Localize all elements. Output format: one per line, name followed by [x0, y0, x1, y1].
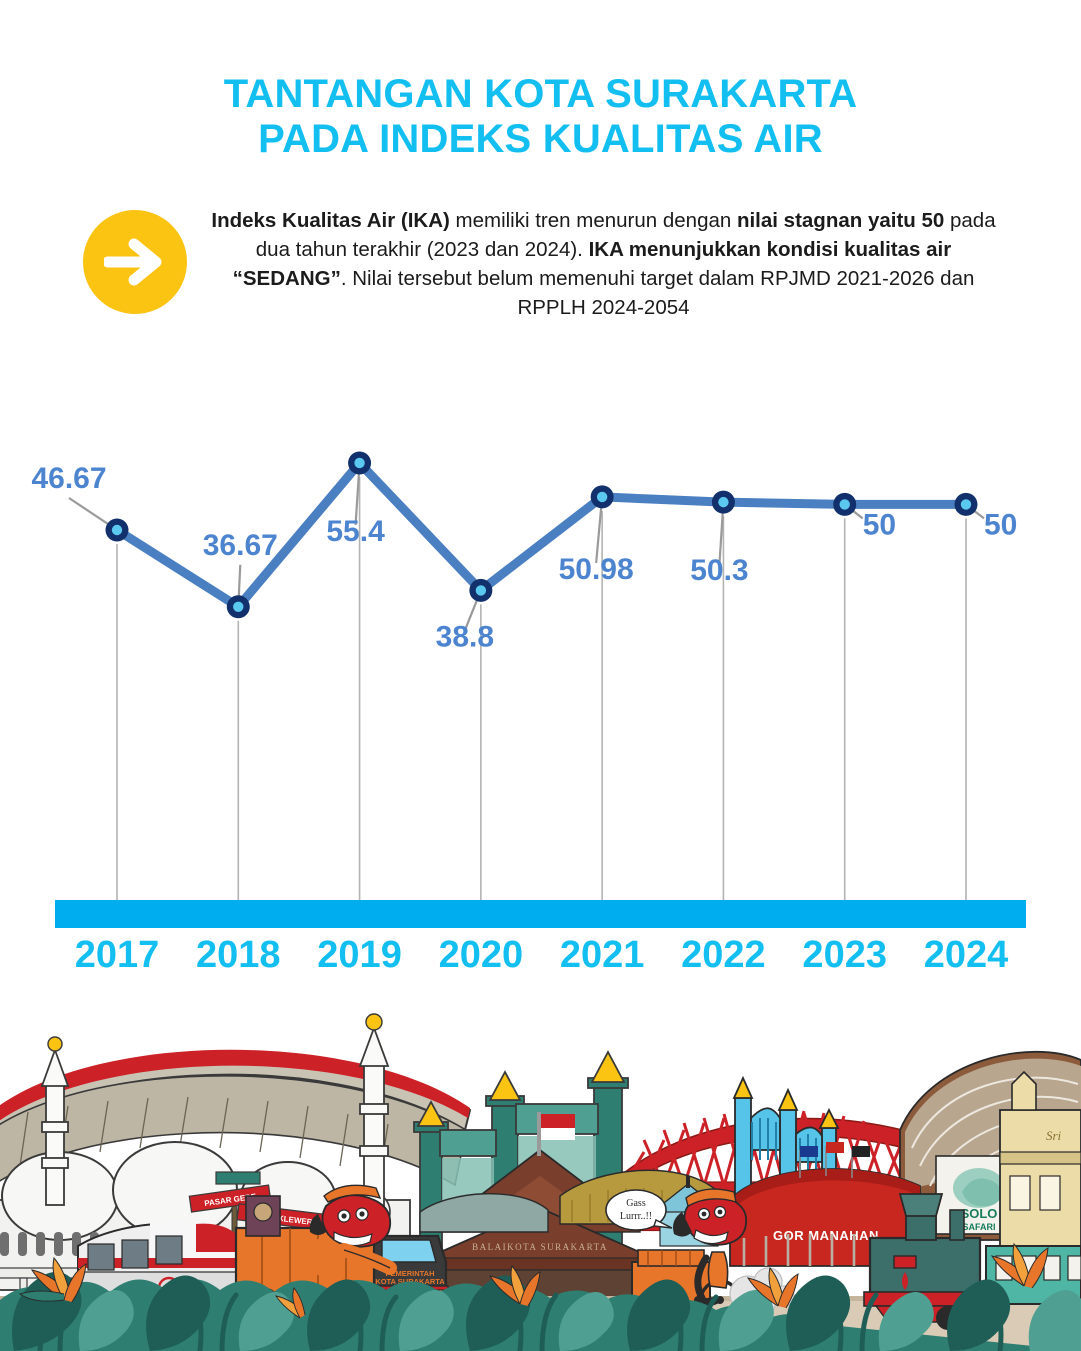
intro-bold-2: nilai stagnan yaitu 50	[737, 209, 944, 232]
svg-text:Gass: Gass	[626, 1198, 646, 1209]
data-point-marker-core	[718, 497, 728, 507]
intro-block: Indeks Kualitas Air (IKA) memiliki tren …	[0, 200, 1081, 322]
svg-text:BALAIKOTA SURAKARTA: BALAIKOTA SURAKARTA	[472, 1242, 608, 1252]
svg-text:SAFARI: SAFARI	[962, 1222, 995, 1232]
data-point-value-label: 55.4	[326, 515, 385, 548]
x-axis-year-label: 2019	[317, 936, 402, 974]
data-point-value-label: 38.8	[436, 620, 494, 653]
data-point-value-label: 50	[984, 508, 1017, 541]
ika-line-chart: 46.6736.6755.438.850.9850.35050	[0, 418, 1081, 918]
x-axis-year-label: 2017	[75, 936, 160, 974]
intro-bold-1: Indeks Kualitas Air (IKA)	[211, 209, 449, 232]
x-axis-year-label: 2024	[924, 936, 1009, 974]
page-title: TANTANGAN KOTA SURAKARTA PADA INDEKS KUA…	[0, 72, 1081, 162]
intro-text-1: memiliki tren menurun dengan	[450, 209, 737, 232]
arrow-right-icon	[83, 210, 187, 314]
data-point-marker-core	[354, 458, 364, 468]
data-point-value-label: 50	[863, 508, 896, 541]
x-axis-year-label: 2020	[439, 936, 524, 974]
surakarta-landmarks-illustration: PASAR GEDE PASAR KLEWER	[0, 1000, 1081, 1351]
data-point-marker-core	[597, 492, 607, 502]
intro-paragraph: Indeks Kualitas Air (IKA) memiliki tren …	[209, 200, 999, 322]
x-axis-year-labels: 20172018201920202021202220232024	[55, 936, 1026, 992]
page-title-line-1: TANTANGAN KOTA SURAKARTA	[0, 72, 1081, 117]
chart-svg: 46.6736.6755.438.850.9850.35050	[0, 418, 1081, 918]
x-axis-year-label: 2023	[802, 936, 887, 974]
x-axis-year-label: 2022	[681, 936, 766, 974]
svg-text:Sri: Sri	[1046, 1128, 1062, 1143]
x-axis-year-label: 2021	[560, 936, 645, 974]
data-point-marker-core	[112, 525, 122, 535]
intro-text-3: . Nilai tersebut belum memenuhi target d…	[341, 267, 975, 319]
data-point-marker-core	[476, 585, 486, 595]
x-axis-year-label: 2018	[196, 936, 281, 974]
data-point-value-label: 50.98	[559, 553, 634, 586]
data-point-marker-core	[961, 499, 971, 509]
axis-bar	[55, 900, 1026, 928]
data-point-marker-core	[840, 499, 850, 509]
data-point-marker-core	[233, 602, 243, 612]
data-point-value-label: 50.3	[690, 554, 748, 587]
infographic-page: TANTANGAN KOTA SURAKARTA PADA INDEKS KUA…	[0, 0, 1081, 1351]
data-point-value-label: 46.67	[31, 462, 106, 495]
page-title-line-2: PADA INDEKS KUALITAS AIR	[0, 117, 1081, 162]
svg-text:SOLO: SOLO	[961, 1206, 998, 1221]
data-point-value-label: 36.67	[203, 529, 278, 562]
svg-text:Lurrr..!!: Lurrr..!!	[620, 1211, 652, 1222]
